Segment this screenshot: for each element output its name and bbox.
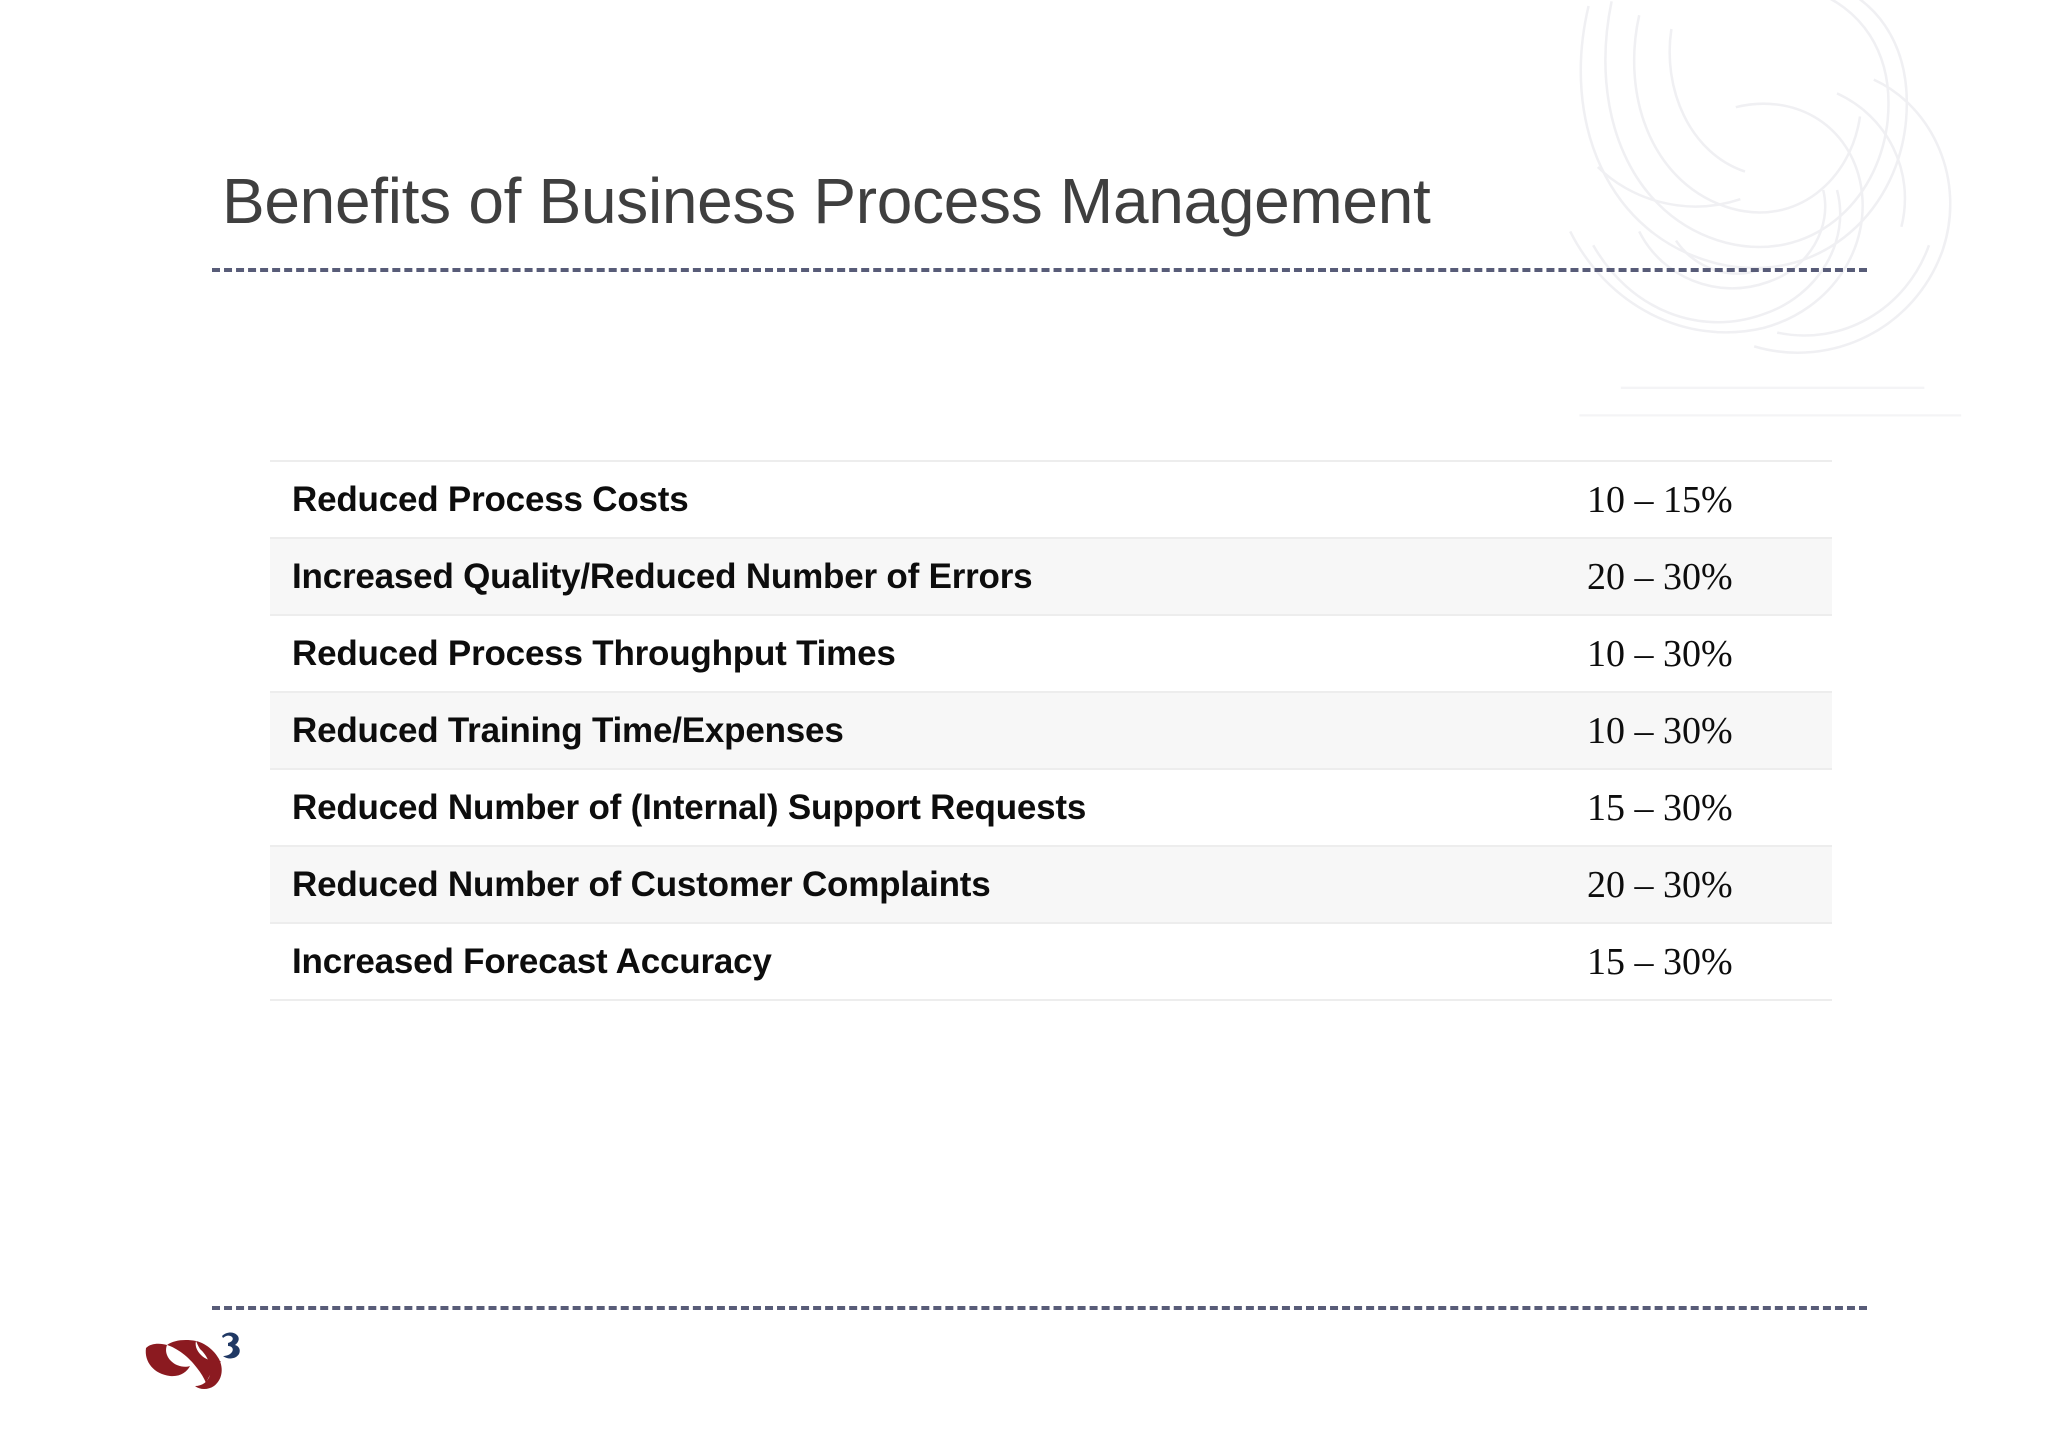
table-row: Increased Forecast Accuracy 15 – 30% bbox=[270, 923, 1832, 1000]
benefit-range-text: 15 – 30% bbox=[1545, 786, 1733, 830]
table-row: Increased Quality/Reduced Number of Erro… bbox=[270, 538, 1832, 615]
benefit-label: Reduced Number of Customer Complaints bbox=[270, 846, 1545, 923]
header-divider bbox=[212, 268, 1867, 272]
benefit-range: 15 – 30% bbox=[1545, 923, 1832, 1000]
table-row: Reduced Number of (Internal) Support Req… bbox=[270, 769, 1832, 846]
footer-divider bbox=[212, 1306, 1867, 1310]
benefit-range-text: 20 – 30% bbox=[1545, 863, 1733, 907]
table-row: Reduced Process Costs 10 – 15% bbox=[270, 461, 1832, 538]
benefit-label: Reduced Process Throughput Times bbox=[270, 615, 1545, 692]
benefit-label: Reduced Process Costs bbox=[270, 461, 1545, 538]
benefit-range: 20 – 30% bbox=[1545, 846, 1832, 923]
benefit-range-text: 20 – 30% bbox=[1545, 555, 1733, 599]
benefit-range-text: 10 – 30% bbox=[1545, 632, 1733, 676]
benefit-range: 10 – 30% bbox=[1545, 615, 1832, 692]
table-row: Reduced Number of Customer Complaints 20… bbox=[270, 846, 1832, 923]
benefit-range: 10 – 15% bbox=[1545, 461, 1832, 538]
benefit-range-text: 10 – 15% bbox=[1545, 478, 1733, 522]
benefit-range: 10 – 30% bbox=[1545, 692, 1832, 769]
benefit-label: Increased Quality/Reduced Number of Erro… bbox=[270, 538, 1545, 615]
benefit-range: 15 – 30% bbox=[1545, 769, 1832, 846]
slide-canvas: Benefits of Business Process Management … bbox=[0, 0, 2048, 1447]
benefit-label: Reduced Number of (Internal) Support Req… bbox=[270, 769, 1545, 846]
m3-logo-watermark bbox=[1538, 0, 1998, 420]
benefits-table: Reduced Process Costs 10 – 15% Increased… bbox=[270, 460, 1832, 1001]
benefit-range: 20 – 30% bbox=[1545, 538, 1832, 615]
table-row: Reduced Process Throughput Times 10 – 30… bbox=[270, 615, 1832, 692]
page-title: Benefits of Business Process Management bbox=[222, 168, 1431, 235]
benefit-range-text: 15 – 30% bbox=[1545, 940, 1733, 984]
benefit-range-text: 10 – 30% bbox=[1545, 709, 1733, 753]
benefit-label: Increased Forecast Accuracy bbox=[270, 923, 1545, 1000]
m3-swoosh-logo bbox=[140, 1328, 270, 1408]
table-row: Reduced Training Time/Expenses 10 – 30% bbox=[270, 692, 1832, 769]
benefit-label: Reduced Training Time/Expenses bbox=[270, 692, 1545, 769]
